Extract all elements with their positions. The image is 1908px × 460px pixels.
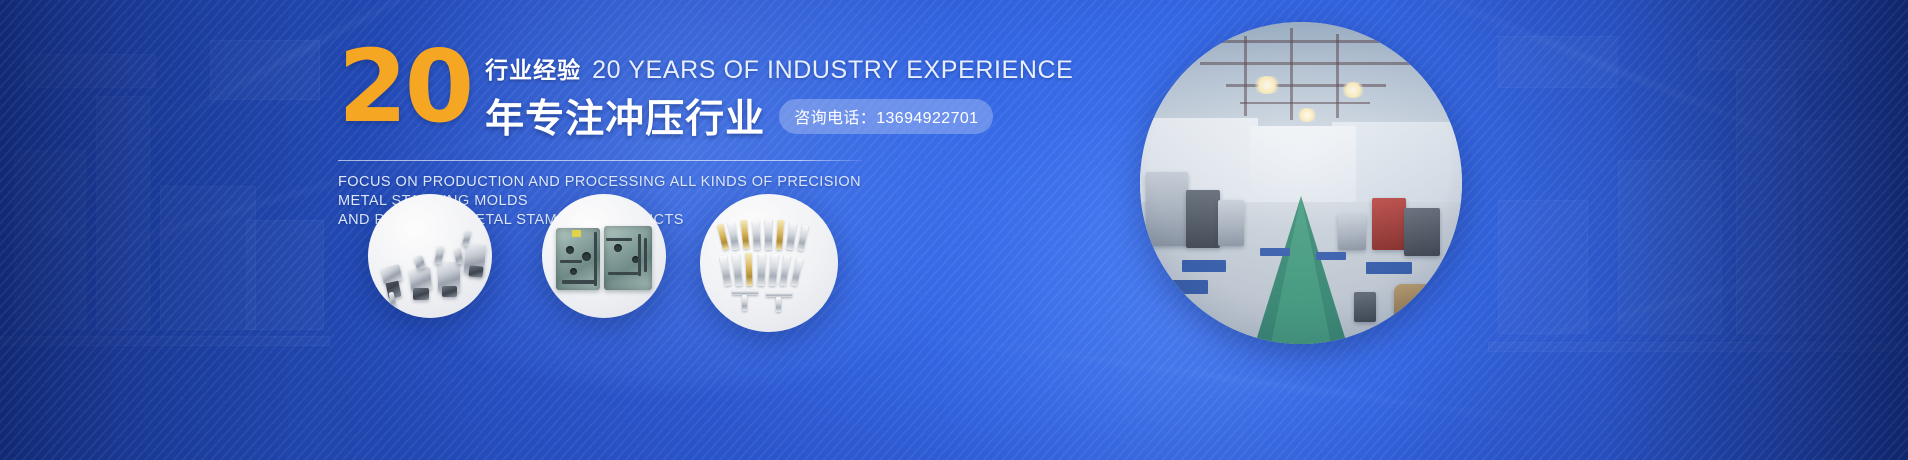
workshop-photo-shading [1140, 22, 1462, 344]
product-circle-mold[interactable] [542, 194, 666, 318]
headline-cn-small: 行业经验 [485, 51, 581, 85]
headline-line-1: 行业经验 20 YEARS OF INDUSTRY EXPERIENCE [485, 51, 1073, 85]
headline-row: 20 行业经验 20 YEARS OF INDUSTRY EXPERIENCE … [338, 40, 898, 144]
divider-line [338, 160, 862, 161]
phone-badge[interactable]: 咨询电话：13694922701 [779, 99, 993, 134]
headline-en-small: 20 YEARS OF INDUSTRY EXPERIENCE [592, 56, 1073, 85]
product-circle-terminal-pins[interactable] [700, 194, 838, 332]
hero-banner: 20 行业经验 20 YEARS OF INDUSTRY EXPERIENCE … [0, 0, 1908, 460]
factory-workshop-photo[interactable] [1140, 22, 1462, 344]
years-number: 20 [338, 44, 471, 130]
headline-line-2: 年专注冲压行业 咨询电话：13694922701 [485, 88, 1073, 144]
headline-text-group: 行业经验 20 YEARS OF INDUSTRY EXPERIENCE 年专注… [485, 40, 1073, 144]
product-circle-connectors[interactable] [368, 194, 492, 318]
headline-cn-big: 年专注冲压行业 [485, 88, 765, 144]
